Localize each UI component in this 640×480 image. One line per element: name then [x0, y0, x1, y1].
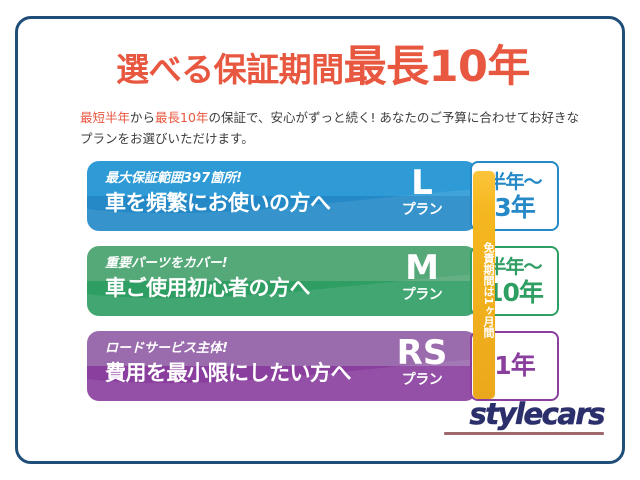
plan-row-text-m: 重要パーツをカバー! 車ご使用初心者の方へ — [105, 254, 310, 303]
duration-line2-rs: 1年 — [494, 352, 534, 380]
subtitle-text: 最短半年から最長10年の保証で、安心がずっと続く! あなたのご予算に合わせてお好… — [80, 107, 580, 149]
disclaimer-strip-label: 免責期間は1ヶ月間 — [473, 215, 495, 365]
subtitle-plain-1: から — [130, 110, 155, 125]
subtitle-highlight-1: 最短半年 — [80, 110, 130, 125]
plan-word-rs: プラン — [379, 371, 465, 389]
plan-mainlabel-m: 車ご使用初心者の方へ — [105, 273, 310, 303]
plan-sublabel-rs: ロードサービス主体! — [105, 339, 351, 358]
brand-logo-text: stylecars — [436, 398, 604, 430]
plan-row-l[interactable]: 最大保証範囲397箇所! 車を頻繁にお使いの方へ L プラン — [87, 161, 477, 231]
plan-row-text-rs: ロードサービス主体! 費用を最小限にしたい方へ — [105, 339, 351, 388]
plan-row-m[interactable]: 重要パーツをカバー! 車ご使用初心者の方へ M プラン — [87, 246, 477, 316]
plan-letter-l: L — [379, 165, 465, 201]
advertisement-banner: 選べる保証期間最長10年 最短半年から最長10年の保証で、安心がずっと続く! あ… — [0, 0, 640, 480]
plan-sublabel-m: 重要パーツをカバー! — [105, 254, 310, 273]
plan-row-text-l: 最大保証範囲397箇所! 車を頻繁にお使いの方へ — [105, 169, 331, 218]
brand-logo: stylecars — [436, 398, 604, 435]
banner-frame: 選べる保証期間最長10年 最短半年から最長10年の保証で、安心がずっと続く! あ… — [15, 16, 625, 464]
headline-part-1: 選べる保証期間 — [116, 50, 344, 89]
plan-word-m: プラン — [379, 286, 465, 304]
disclaimer-strip: 免責期間は1ヶ月間 — [473, 171, 495, 399]
subtitle-highlight-2: 最長10年 — [155, 110, 208, 125]
duration-line1-l: 半年〜 — [487, 170, 541, 194]
plan-sublabel-l: 最大保証範囲397箇所! — [105, 169, 331, 188]
duration-line2-l: 3年 — [494, 194, 534, 222]
headline-part-2: 最長10年 — [344, 42, 530, 92]
plan-row-rs[interactable]: ロードサービス主体! 費用を最小限にしたい方へ RS プラン — [87, 331, 477, 401]
page-title: 選べる保証期間最長10年 — [18, 45, 628, 92]
plan-mainlabel-l: 車を頻繁にお使いの方へ — [105, 188, 331, 218]
plan-badge-rs: RS プラン — [379, 335, 465, 389]
plan-mainlabel-rs: 費用を最小限にしたい方へ — [105, 358, 351, 388]
plan-badge-l: L プラン — [379, 165, 465, 219]
plan-word-l: プラン — [379, 201, 465, 219]
plan-badge-m: M プラン — [379, 250, 465, 304]
plan-list: 最大保証範囲397箇所! 車を頻繁にお使いの方へ L プラン — [87, 161, 559, 409]
duration-line1-m: 半年〜 — [487, 255, 541, 279]
brand-logo-underline — [444, 432, 604, 435]
plan-letter-rs: RS — [379, 335, 465, 371]
plan-letter-m: M — [379, 250, 465, 286]
